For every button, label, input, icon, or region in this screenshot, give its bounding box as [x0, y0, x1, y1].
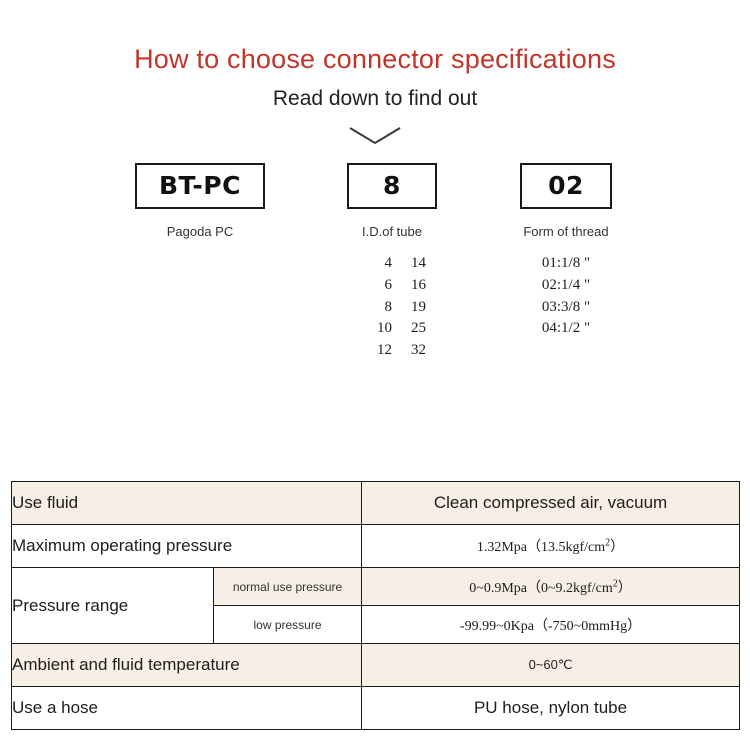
- code-box-thread: 02: [520, 163, 612, 209]
- spec-label: Use a hose: [12, 687, 362, 730]
- spec-value-prefix: 0~0.9Mpa（0~9.2kgf/cm: [469, 581, 612, 596]
- table-row: Use fluid Clean compressed air, vacuum: [12, 482, 740, 525]
- list-item: 04:1/2 ": [520, 318, 612, 340]
- code-caption-tube: I.D.of tube: [347, 224, 437, 239]
- tube-size-b: 19: [392, 297, 426, 319]
- table-row: Ambient and fluid temperature 0~60℃: [12, 644, 740, 687]
- tube-size-a: 4: [358, 253, 392, 275]
- list-item: 8 19: [347, 297, 437, 319]
- code-column-series: BT-PC Pagoda PC: [135, 163, 265, 239]
- spec-label: Maximum operating pressure: [12, 525, 362, 568]
- code-column-thread: 02 Form of thread 01:1/8 " 02:1/4 " 03:3…: [520, 163, 612, 340]
- code-caption-series: Pagoda PC: [135, 224, 265, 239]
- thread-form-list: 01:1/8 " 02:1/4 " 03:3/8 " 04:1/2 ": [520, 253, 612, 340]
- spec-value: -99.99~0Kpa（-750~0mmHg）: [362, 606, 740, 644]
- tube-size-b: 25: [392, 318, 426, 340]
- table-row: Maximum operating pressure 1.32Mpa（13.5k…: [12, 525, 740, 568]
- chevron-down-icon-wrap: [0, 125, 750, 151]
- tube-size-b: 16: [392, 275, 426, 297]
- tube-size-b: 32: [392, 340, 426, 362]
- part-number-breakdown: BT-PC Pagoda PC 8 I.D.of tube 4 14 6 16 …: [0, 163, 750, 358]
- spec-value: 0~60℃: [362, 644, 740, 687]
- tube-size-a: 12: [358, 340, 392, 362]
- list-item: 02:1/4 ": [520, 275, 612, 297]
- list-item: 10 25: [347, 318, 437, 340]
- spec-value: 1.32Mpa（13.5kgf/cm2）: [362, 525, 740, 568]
- spec-label: Pressure range: [12, 568, 214, 644]
- spec-value: PU hose, nylon tube: [362, 687, 740, 730]
- spec-value-suffix: ）: [618, 581, 632, 596]
- specification-table: Use fluid Clean compressed air, vacuum M…: [11, 481, 740, 730]
- spec-value-prefix: 1.32Mpa（13.5kgf/cm: [477, 540, 605, 555]
- page-subtitle: Read down to find out: [0, 87, 750, 111]
- spec-sub-label: normal use pressure: [214, 568, 362, 606]
- tube-size-list: 4 14 6 16 8 19 10 25 12 32: [347, 253, 437, 362]
- table-row: Use a hose PU hose, nylon tube: [12, 687, 740, 730]
- tube-size-a: 8: [358, 297, 392, 319]
- page-title: How to choose connector specifications: [0, 44, 750, 75]
- list-item: 4 14: [347, 253, 437, 275]
- spec-sub-label: low pressure: [214, 606, 362, 644]
- list-item: 6 16: [347, 275, 437, 297]
- tube-size-a: 6: [358, 275, 392, 297]
- code-caption-thread: Form of thread: [520, 224, 612, 239]
- list-item: 01:1/8 ": [520, 253, 612, 275]
- spec-value: Clean compressed air, vacuum: [362, 482, 740, 525]
- spec-label: Use fluid: [12, 482, 362, 525]
- chevron-down-icon: [347, 125, 403, 147]
- page-header: How to choose connector specifications R…: [0, 0, 750, 111]
- code-column-tube: 8 I.D.of tube 4 14 6 16 8 19 10 25 12 32: [347, 163, 437, 362]
- spec-value: 0~0.9Mpa（0~9.2kgf/cm2）: [362, 568, 740, 606]
- code-box-tube: 8: [347, 163, 437, 209]
- spec-label: Ambient and fluid temperature: [12, 644, 362, 687]
- list-item: 12 32: [347, 340, 437, 362]
- code-box-series: BT-PC: [135, 163, 265, 209]
- tube-size-b: 14: [392, 253, 426, 275]
- table-row: Pressure range normal use pressure 0~0.9…: [12, 568, 740, 606]
- list-item: 03:3/8 ": [520, 297, 612, 319]
- spec-value-suffix: ）: [610, 540, 624, 555]
- tube-size-a: 10: [358, 318, 392, 340]
